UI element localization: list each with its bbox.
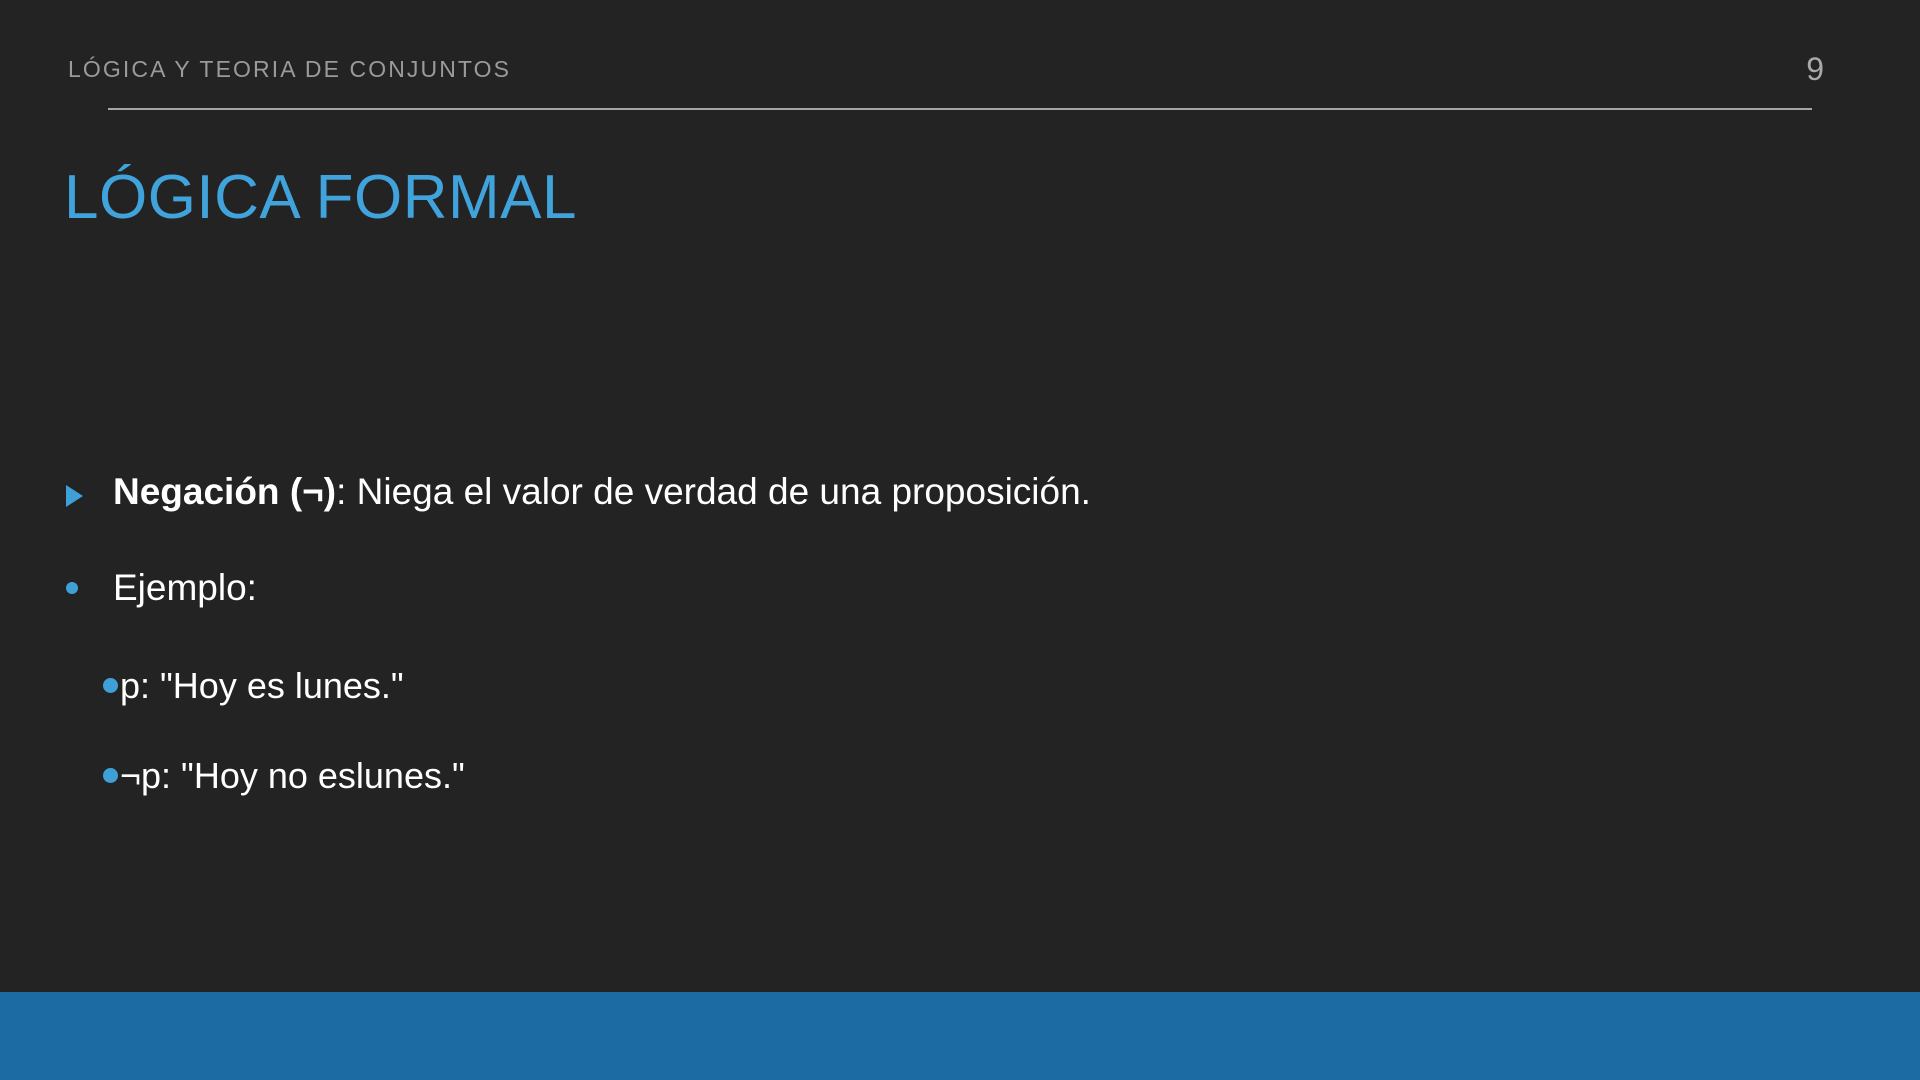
round-dot-marker bbox=[103, 678, 118, 693]
list-item: ¬p: "Hoy no eslunes." bbox=[0, 751, 1920, 841]
list-item-label: Ejemplo: bbox=[113, 562, 257, 614]
slide-canvas: LÓGICA Y TEORIA DE CONJUNTOS 9 LÓGICA FO… bbox=[0, 0, 1920, 1080]
header-divider-rule bbox=[108, 108, 1812, 110]
list-item: p: "Hoy es lunes." bbox=[0, 661, 1920, 751]
footer-accent-bar bbox=[0, 992, 1920, 1080]
header-section-label: LÓGICA Y TEORIA DE CONJUNTOS bbox=[68, 52, 511, 86]
triangle-arrow-marker bbox=[66, 485, 83, 507]
round-dot-marker bbox=[103, 768, 118, 783]
list-item: Ejemplo: bbox=[0, 563, 1920, 661]
list-item: Negación (¬): Niega el valor de verdad d… bbox=[0, 466, 1920, 563]
list-item-remainder: : Niega el valor de verdad de una propos… bbox=[336, 471, 1091, 512]
list-item-label: p: "Hoy es lunes." bbox=[120, 661, 404, 711]
list-item-emphasis: Negación (¬) bbox=[113, 471, 336, 512]
page-title: LÓGICA FORMAL bbox=[64, 160, 577, 236]
page-number: 9 bbox=[1806, 49, 1824, 89]
list-item-label: ¬p: "Hoy no eslunes." bbox=[120, 751, 465, 801]
slide-header: LÓGICA Y TEORIA DE CONJUNTOS 9 bbox=[0, 52, 1920, 98]
bullet-list: Negación (¬): Niega el valor de verdad d… bbox=[0, 466, 1920, 841]
list-item-label: Negación (¬): Niega el valor de verdad d… bbox=[113, 466, 1091, 518]
round-dot-marker bbox=[66, 582, 78, 594]
